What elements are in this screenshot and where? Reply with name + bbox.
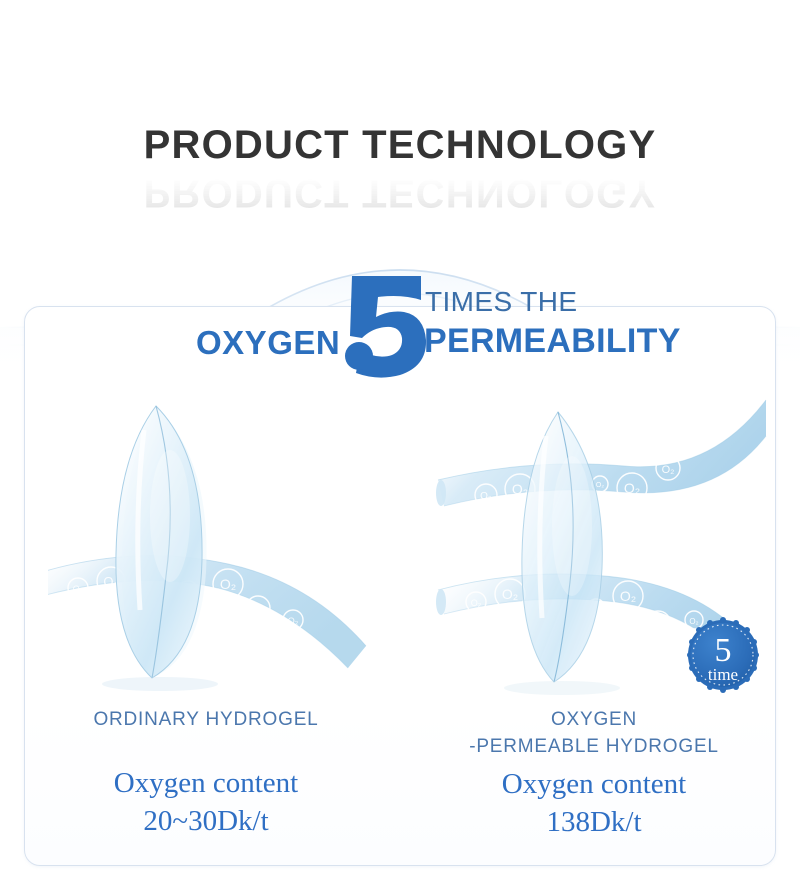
page-title: PRODUCT TECHNOLOGY <box>0 122 800 168</box>
metric-value-permeable: 138Dk/t <box>416 803 772 841</box>
metric-label-ordinary: Oxygen content <box>36 764 376 802</box>
svg-text:5: 5 <box>715 632 732 669</box>
caption-ordinary-hydrogel: ORDINARY HYDROGEL Oxygen content 20~30Dk… <box>36 706 376 840</box>
caption-name-ordinary: ORDINARY HYDROGEL <box>36 706 376 733</box>
page-title-reflection: PRODUCT TECHNOLOGY <box>0 170 800 216</box>
caption-name-permeable-line1: OXYGEN <box>416 706 772 733</box>
metric-label-permeable: Oxygen content <box>416 765 772 803</box>
metric-value-ordinary: 20~30Dk/t <box>36 802 376 840</box>
product-technology-infographic: PRODUCT TECHNOLOGY PRODUCT TECHNOLOGY <box>0 0 800 880</box>
page-title-block: PRODUCT TECHNOLOGY PRODUCT TECHNOLOGY <box>0 122 800 216</box>
caption-oxygen-permeable-hydrogel: OXYGEN -PERMEABLE HYDROGEL Oxygen conten… <box>416 706 772 841</box>
svg-text:time: time <box>708 665 738 684</box>
caption-name-permeable-line2: -PERMEABLE HYDROGEL <box>416 733 772 760</box>
metric-permeable: Oxygen content 138Dk/t <box>416 765 772 841</box>
five-time-badge: 5 time <box>687 617 759 693</box>
metric-ordinary: Oxygen content 20~30Dk/t <box>36 764 376 840</box>
